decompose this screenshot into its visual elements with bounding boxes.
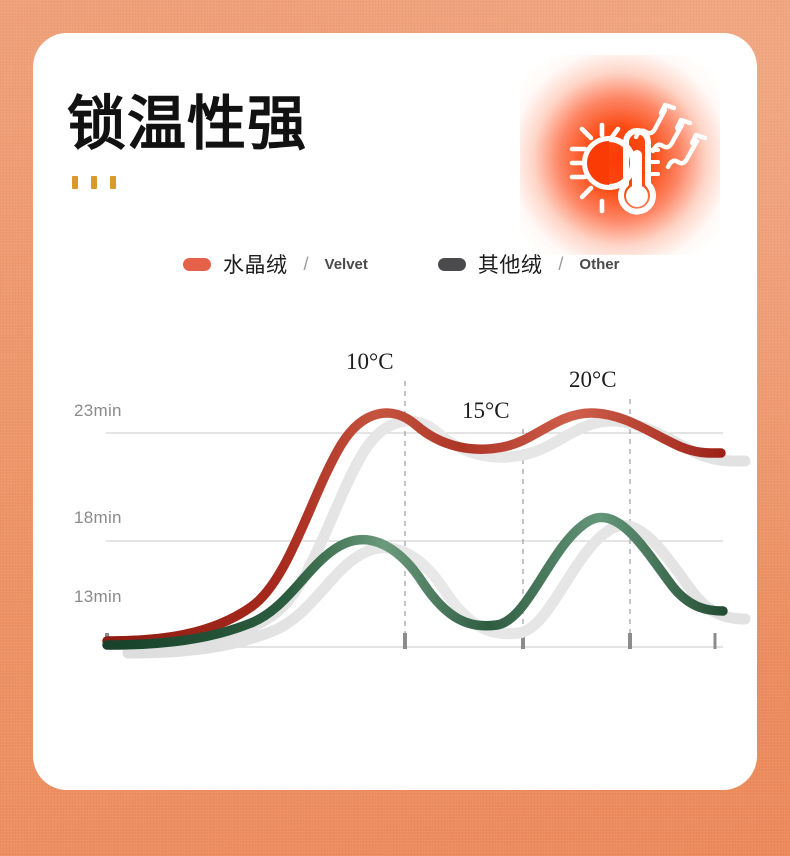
content-card: 锁温性强 [33,33,757,790]
accent-dot [110,176,116,189]
page-title: 锁温性强 [67,95,307,154]
legend-label-en: Other [579,256,619,273]
legend-item-other[interactable]: 其他绒 / Other [438,249,620,279]
sun-thermometer-icon [520,55,720,255]
legend-label-en: Velvet [325,256,368,273]
legend-separator: / [304,254,309,275]
legend-pill-velvet-icon [183,258,211,271]
x-annotation-10c: 10°C [346,349,394,375]
y-tick-label-23min: 23min [74,401,122,421]
temperature-retention-chart: 23min 18min 13min 10°C 15°C 20°C [33,303,757,673]
legend-label-cn: 水晶绒 [223,249,288,279]
accent-dot [91,176,97,189]
legend-separator: / [558,254,563,275]
y-tick-label-13min: 13min [74,587,122,607]
chart-legend: 水晶绒 / Velvet 其他绒 / Other [183,249,619,279]
y-tick-label-18min: 18min [74,508,122,528]
accent-dot [72,176,78,189]
legend-item-velvet[interactable]: 水晶绒 / Velvet [183,249,368,279]
legend-pill-other-icon [438,258,466,271]
x-annotation-15c: 15°C [462,398,510,424]
heat-badge [520,55,720,255]
legend-label-cn: 其他绒 [478,249,543,279]
chart-canvas [33,303,757,673]
x-annotation-20c: 20°C [569,367,617,393]
title-accent-dots [72,176,116,189]
